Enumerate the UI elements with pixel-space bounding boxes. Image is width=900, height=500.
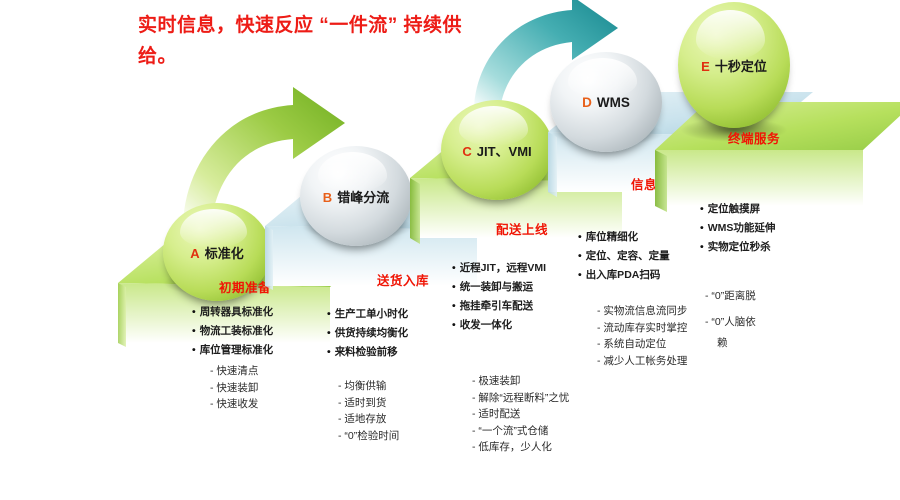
dash-item: - 均衡供输 [338,378,399,395]
bullet-item: •出入库PDA扫码 [578,266,670,285]
step-e-slab [655,102,900,212]
dash-item: - 快速装卸 [210,380,258,397]
sphere-e-highlight [696,10,765,60]
dash-item: - “一个流”式仓储 [472,423,569,440]
sphere-b-key: B [323,190,332,205]
sphere-c[interactable]: CJIT、VMI [441,100,553,200]
bullet-item: •来料检验前移 [327,343,408,362]
page-title: 实时信息，快速反应 “一件流” 持续供给。 [138,10,498,72]
bullet-item: •实物定位秒杀 [700,238,775,257]
sphere-b[interactable]: B错峰分流 [300,146,412,246]
dash-item: - 极速装卸 [472,373,569,390]
dash-column-d: - 实物流信息流同步 - 流动库存实时掌控 - 系统自动定位 - 减少人工帐务处… [597,303,687,369]
bullet-item: •WMS功能延伸 [700,219,775,238]
sphere-e[interactable]: E十秒定位 [678,2,790,128]
sphere-e-text: 十秒定位 [715,59,767,74]
dash-item: - 快速清点 [210,363,258,380]
dash-item: - 适地存放 [338,411,399,428]
sphere-a-key: A [190,246,199,261]
dash-item: - 适时到货 [338,395,399,412]
dash-item: - 解除“远程断料”之忧 [472,390,569,407]
sphere-c-text: JIT、VMI [477,144,532,159]
diagram-canvas: 实时信息，快速反应 “一件流” 持续供给。 [0,0,900,500]
bullet-item: •定位、定容、定量 [578,247,670,266]
dash-column-b: - 均衡供输 - 适时到货 - 适地存放 - “0”检验时间 [338,378,399,444]
bullet-item: •周转器具标准化 [192,303,273,322]
sphere-e-label: E十秒定位 [701,56,767,75]
text-column-c: •近程JIT，远程VMI •统一装卸与搬运 •拖挂牵引车配送 •收发一体化 [452,259,546,335]
sphere-d-text: WMS [597,95,630,110]
dash-column-c: - 极速装卸 - 解除“远程断料”之忧 - 适时配送 - “一个流”式仓储 - … [472,373,569,456]
dash-column-e: - “0”距离脱 - “0”人脑依 赖 [705,283,756,352]
stage-label-c: 配送上线 [496,219,548,238]
dash-item: - 适时配送 [472,406,569,423]
dash-item: - 流动库存实时掌控 [597,320,687,337]
bullet-item: •收发一体化 [452,316,546,335]
sphere-e-key: E [701,59,710,74]
sphere-a-text: 标准化 [205,246,244,261]
dash-item: - “0”人脑依 [705,309,756,335]
bullet-item: •库位精细化 [578,228,670,247]
bullet-item: •物流工装标准化 [192,322,273,341]
bullet-item: •统一装卸与搬运 [452,278,546,297]
sphere-b-text: 错峰分流 [337,190,389,205]
dash-item: - “0”检验时间 [338,428,399,445]
sphere-b-label: B错峰分流 [323,187,389,206]
bullet-item: •供货持续均衡化 [327,324,408,343]
text-column-b: •生产工单小时化 •供货持续均衡化 •来料检验前移 [327,305,408,362]
stage-label-e: 终端服务 [728,128,780,147]
bullet-item: •拖挂牵引车配送 [452,297,546,316]
sphere-d[interactable]: DWMS [550,52,662,152]
sphere-c-label: CJIT、VMI [462,141,531,160]
dash-item: - “0”距离脱 [705,283,756,309]
stage-label-a: 初期准备 [219,277,271,296]
bullet-item: •近程JIT，远程VMI [452,259,546,278]
stage-label-b: 送货入库 [377,270,429,289]
bullet-item: •生产工单小时化 [327,305,408,324]
sphere-d-highlight [568,58,637,98]
dash-item: 赖 [717,335,756,352]
text-column-e: •定位触摸屏 •WMS功能延伸 •实物定位秒杀 [700,200,775,257]
dash-item: - 低库存，少人化 [472,439,569,456]
dash-column-a: - 快速清点 - 快速装卸 - 快速收发 [210,363,258,413]
dash-item: - 快速收发 [210,396,258,413]
bullet-item: •定位触摸屏 [700,200,775,219]
dash-item: - 减少人工帐务处理 [597,353,687,370]
text-column-d: •库位精细化 •定位、定容、定量 •出入库PDA扫码 [578,228,670,285]
text-column-a: •周转器具标准化 •物流工装标准化 •库位管理标准化 [192,303,273,360]
dash-item: - 实物流信息流同步 [597,303,687,320]
sphere-d-label: DWMS [582,95,630,110]
sphere-c-key: C [462,144,471,159]
sphere-a-label: A标准化 [190,243,243,262]
sphere-d-key: D [582,95,592,110]
bullet-item: •库位管理标准化 [192,341,273,360]
dash-item: - 系统自动定位 [597,336,687,353]
